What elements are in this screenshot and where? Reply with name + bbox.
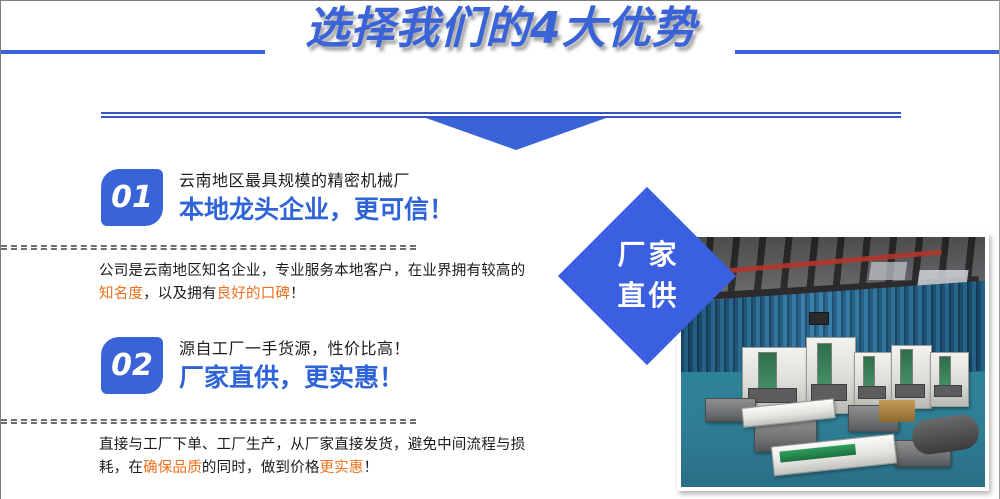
chevron-down-icon [426, 118, 606, 150]
photo-skylight-left [868, 262, 907, 280]
highlighted-text: 确保品质 [143, 460, 202, 476]
page-title: 选择我们的4大优势 [1, 7, 1000, 52]
advantage-header-02: 02 源自工厂一手货源，性价比高！ 厂家直供，更实惠！ [101, 337, 410, 395]
advantage-headline-01: 本地龙头企业，更可信！ [179, 194, 454, 227]
advantage-number-01: 01 [111, 183, 153, 213]
advantage-body-02: 直接与工厂下单、工厂生产，从厂家直接发货，避免中间流程与损耗，在确保品质的同时，… [99, 434, 539, 481]
advantage-item-02: 02 源自工厂一手货源，性价比高！ 厂家直供，更实惠！ [101, 337, 410, 395]
advantage-headings-02: 源自工厂一手货源，性价比高！ 厂家直供，更实惠！ [179, 337, 410, 395]
advantage-item-01: 01 云南地区最具规模的精密机械厂 本地龙头企业，更可信！ [101, 169, 454, 227]
body-text: ，以及拥有 [143, 286, 217, 302]
advantages-banner: 选择我们的4大优势 01 云南地区最具规模的精密机械厂 本地龙头企业，更可信！ … [0, 0, 1000, 499]
highlighted-text: 更实惠 [320, 460, 364, 476]
advantage-divider-01 [1, 245, 416, 250]
body-text: 公司是云南地区知名企业，专业服务本地客户，在业界拥有较高的 [99, 263, 525, 279]
photo-machine-head [934, 385, 962, 398]
advantage-subtitle-02: 源自工厂一手货源，性价比高！ [179, 339, 410, 359]
advantage-divider-02 [1, 419, 416, 424]
advantage-number-badge-02: 02 [101, 337, 163, 394]
highlighted-text: 良好的口碑 [217, 286, 291, 302]
body-text: ！ [364, 460, 379, 476]
body-text: ！ [290, 286, 305, 302]
advantage-subtitle-01: 云南地区最具规模的精密机械厂 [179, 171, 454, 191]
photo-wooden-crate [879, 400, 915, 423]
photo-machine-5 [930, 352, 968, 407]
body-text: 的同时，做到价格 [202, 460, 320, 476]
advantage-headings-01: 云南地区最具规模的精密机械厂 本地龙头企业，更可信！ [179, 169, 454, 227]
advantage-headline-02: 厂家直供，更实惠！ [179, 362, 410, 395]
photo-machine-head [858, 386, 886, 399]
photo-rail-green-cover [780, 444, 856, 463]
advantage-body-01: 公司是云南地区知名企业，专业服务本地客户，在业界拥有较高的知名度，以及拥有良好的… [99, 260, 539, 307]
photo-wall-lamp [809, 312, 829, 325]
highlighted-text: 知名度 [99, 286, 143, 302]
advantage-header-01: 01 云南地区最具规模的精密机械厂 本地龙头企业，更可信！ [101, 169, 454, 227]
advantage-number-badge-01: 01 [101, 169, 163, 226]
photo-machine-head [895, 384, 925, 399]
advantage-number-02: 02 [111, 351, 153, 381]
